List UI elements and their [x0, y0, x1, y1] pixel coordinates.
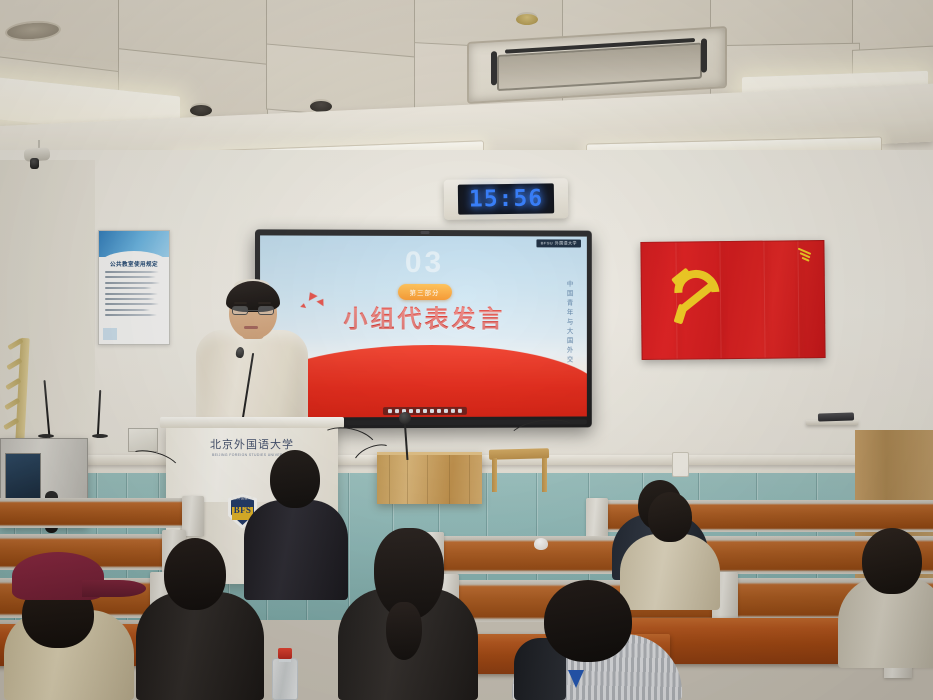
cpc-party-flag	[640, 240, 825, 360]
classroom-rules-poster: 公共教室使用规定	[98, 230, 170, 345]
slide-taskbar[interactable]	[382, 407, 466, 415]
slide-ghost-number: 03	[405, 246, 444, 280]
slide-watermark: BFSU 外国语大学	[537, 239, 581, 247]
student-ponytail-leather	[338, 528, 478, 700]
projector-remote[interactable]	[818, 412, 854, 421]
hammer-and-sickle-icon	[668, 264, 731, 327]
dove-icon	[316, 297, 326, 307]
desk-microphone-head-icon	[399, 412, 411, 424]
slide-vertical-subtitle: 中国青年与大国外交	[563, 280, 573, 365]
glasses-icon	[232, 306, 274, 315]
student-beige-jacket	[620, 490, 720, 610]
student-dark-coat-left	[136, 538, 264, 700]
equipment-screen	[5, 453, 41, 499]
camera-lens-icon	[30, 158, 39, 169]
poster-body-lines	[105, 271, 164, 320]
smoke-detector-icon	[190, 105, 212, 116]
student-maroon-cap	[4, 556, 134, 700]
slide-title: 小组代表发言	[343, 299, 505, 334]
digital-wall-clock: 15:56	[444, 178, 569, 220]
flag-corner-mark-icon	[797, 248, 813, 259]
wall-outlet-box	[128, 428, 158, 452]
ac-wall-controller[interactable]	[672, 452, 689, 477]
student-grey-hoodie	[838, 528, 933, 668]
bench-back-panel	[0, 498, 190, 528]
student-striped-shirt	[512, 600, 682, 700]
plush-toy	[534, 538, 548, 550]
sprinkler-head-icon	[516, 14, 538, 25]
bench-end-panel	[586, 498, 608, 538]
display-camera-icon	[420, 231, 429, 234]
water-bottle	[272, 648, 298, 700]
presentation-slide[interactable]: BFSU 外国语大学 03 第三部分 小组代表发言 中国青年与大国外交	[260, 235, 587, 417]
lecture-hall-photo: 公共教室使用规定 15:56 BFSU 外国语大学 03	[0, 0, 933, 700]
slide-section-badge: 第三部分	[397, 284, 451, 300]
clock-time-display: 15:56	[469, 185, 544, 212]
poster-title: 公共教室使用规定	[99, 260, 169, 268]
